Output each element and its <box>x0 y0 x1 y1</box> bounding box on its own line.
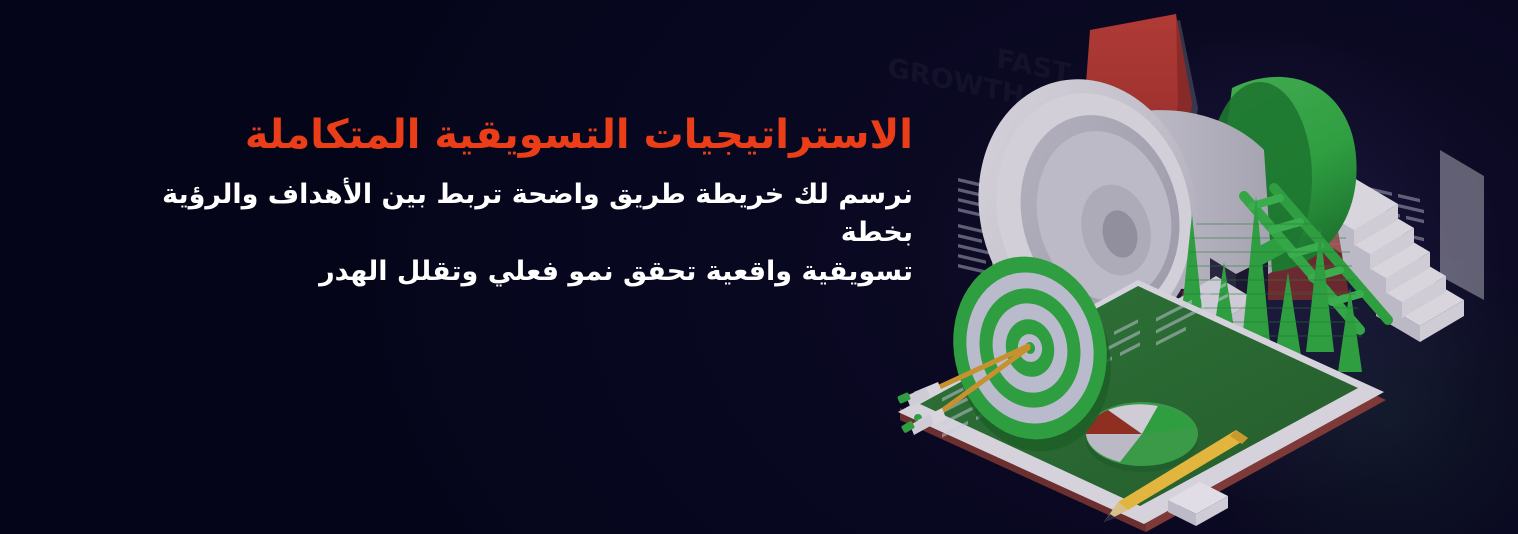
isometric-illustration: FAST GROWTH <box>880 0 1518 534</box>
marketing-hero-banner: الاستراتيجيات التسويقية المتكاملة نرسم ل… <box>0 0 1518 534</box>
page-title: الاستراتيجيات التسويقية المتكاملة <box>123 112 913 158</box>
hero-subtitle-line-2: تسويقية واقعية تحقق نمو فعلي وتقلل الهدر <box>319 256 913 287</box>
hero-text-column: الاستراتيجيات التسويقية المتكاملة نرسم ل… <box>123 112 913 291</box>
pie-chart-lower <box>1086 402 1198 472</box>
hero-subtitle: نرسم لك خريطة طريق واضحة تربط بين الأهدا… <box>123 176 913 291</box>
hero-subtitle-line-1: نرسم لك خريطة طريق واضحة تربط بين الأهدا… <box>162 179 913 248</box>
